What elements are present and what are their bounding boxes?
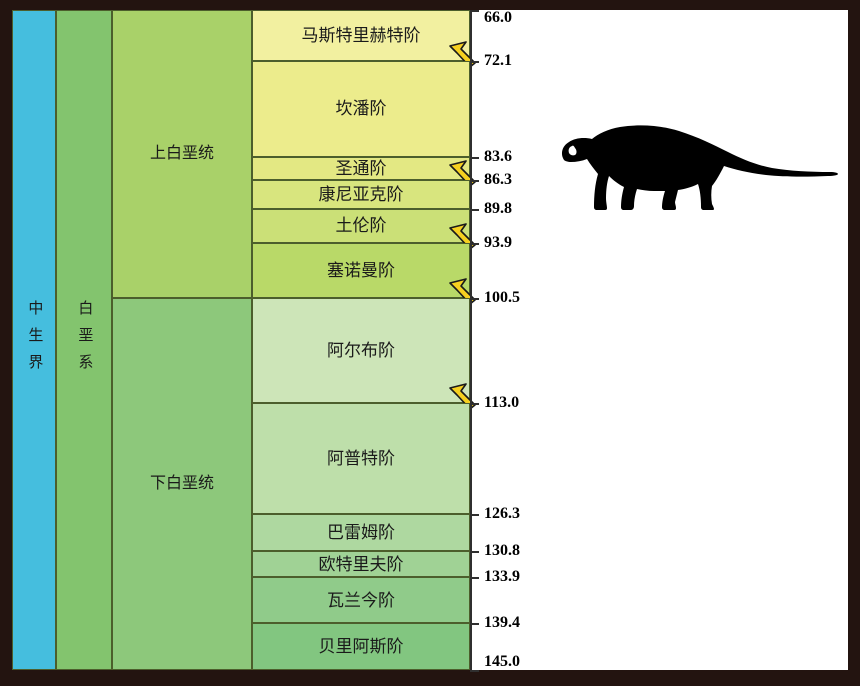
- stage-cell-label: 马斯特里赫特阶: [302, 25, 421, 46]
- axis-tick: [470, 298, 479, 300]
- axis-tick: [470, 623, 479, 625]
- axis-tick-label: 72.1: [484, 52, 512, 70]
- erathem-column: 中生界: [12, 10, 56, 670]
- axis-tick-label: 83.6: [484, 148, 512, 166]
- stage-cell-马斯特里赫特阶: 马斯特里赫特阶: [252, 10, 470, 61]
- stage-cell-阿普特阶: 阿普特阶: [252, 403, 470, 514]
- stratigraphic-chart: 中生界 白垩系 上白垩统下白垩统 马斯特里赫特阶坎潘阶圣通阶康尼亚克阶土伦阶塞诺…: [12, 10, 482, 670]
- stage-cell-欧特里夫阶: 欧特里夫阶: [252, 551, 470, 577]
- axis-line: [470, 10, 472, 670]
- axis-tick-label: 133.9: [484, 568, 520, 586]
- axis-tick: [470, 209, 479, 211]
- axis-tick: [470, 243, 479, 245]
- stage-cell-label: 阿普特阶: [327, 448, 395, 469]
- series-cell-下白垩统: 下白垩统: [112, 298, 252, 670]
- series-cell-label: 下白垩统: [150, 474, 214, 494]
- system-column: 白垩系: [56, 10, 112, 670]
- axis-tick: [470, 670, 479, 672]
- axis-tick-label: 86.3: [484, 171, 512, 189]
- axis-tick: [470, 61, 479, 63]
- system-cell-白垩系: 白垩系: [56, 10, 112, 670]
- stage-cell-label: 欧特里夫阶: [319, 554, 404, 575]
- axis-tick-label: 130.8: [484, 542, 520, 560]
- axis-tick: [470, 10, 479, 12]
- stage-cell-塞诺曼阶: 塞诺曼阶: [252, 243, 470, 298]
- axis-tick: [470, 514, 479, 516]
- stage-cell-label: 土伦阶: [336, 215, 387, 236]
- stage-cell-坎潘阶: 坎潘阶: [252, 61, 470, 157]
- series-cell-上白垩统: 上白垩统: [112, 10, 252, 298]
- stage-cell-label: 瓦兰今阶: [327, 590, 395, 611]
- axis-tick-label: 145.0: [484, 653, 520, 671]
- axis-tick-label: 93.9: [484, 234, 512, 252]
- axis-tick: [470, 403, 479, 405]
- stage-column: 马斯特里赫特阶坎潘阶圣通阶康尼亚克阶土伦阶塞诺曼阶阿尔布阶阿普特阶巴雷姆阶欧特里…: [252, 10, 470, 670]
- erathem-cell-中生界: 中生界: [12, 10, 56, 670]
- stage-cell-康尼亚克阶: 康尼亚克阶: [252, 180, 470, 209]
- axis-tick-label: 126.3: [484, 505, 520, 523]
- stage-cell-巴雷姆阶: 巴雷姆阶: [252, 514, 470, 552]
- axis-tick-label: 113.0: [484, 394, 519, 412]
- stage-cell-label: 塞诺曼阶: [327, 260, 395, 281]
- stage-cell-label: 巴雷姆阶: [327, 522, 395, 543]
- axis-tick: [470, 157, 479, 159]
- stage-cell-圣通阶: 圣通阶: [252, 157, 470, 180]
- stage-cell-瓦兰今阶: 瓦兰今阶: [252, 577, 470, 623]
- geologic-time-scale-figure: 中生界 白垩系 上白垩统下白垩统 马斯特里赫特阶坎潘阶圣通阶康尼亚克阶土伦阶塞诺…: [0, 0, 860, 686]
- system-cell-label: 白垩系: [75, 300, 94, 381]
- axis-tick-label: 100.5: [484, 289, 520, 307]
- stage-cell-土伦阶: 土伦阶: [252, 209, 470, 243]
- series-cell-label: 上白垩统: [150, 144, 214, 164]
- axis-tick: [470, 180, 479, 182]
- stage-cell-贝里阿斯阶: 贝里阿斯阶: [252, 623, 470, 670]
- hadrosaur-silhouette: [542, 98, 842, 218]
- stage-cell-label: 阿尔布阶: [327, 340, 395, 361]
- stage-cell-label: 康尼亚克阶: [319, 184, 404, 205]
- axis-tick: [470, 551, 479, 553]
- stage-cell-阿尔布阶: 阿尔布阶: [252, 298, 470, 402]
- axis-tick: [470, 577, 479, 579]
- axis-tick-label: 139.4: [484, 614, 520, 632]
- stage-cell-label: 贝里阿斯阶: [319, 636, 404, 657]
- series-column: 上白垩统下白垩统: [112, 10, 252, 670]
- axis-tick-label: 66.0: [484, 9, 512, 27]
- figure-panel: 中生界 白垩系 上白垩统下白垩统 马斯特里赫特阶坎潘阶圣通阶康尼亚克阶土伦阶塞诺…: [12, 10, 848, 670]
- erathem-cell-label: 中生界: [25, 300, 44, 381]
- stage-cell-label: 圣通阶: [336, 158, 387, 179]
- axis-tick-label: 89.8: [484, 200, 512, 218]
- stage-cell-label: 坎潘阶: [336, 98, 387, 119]
